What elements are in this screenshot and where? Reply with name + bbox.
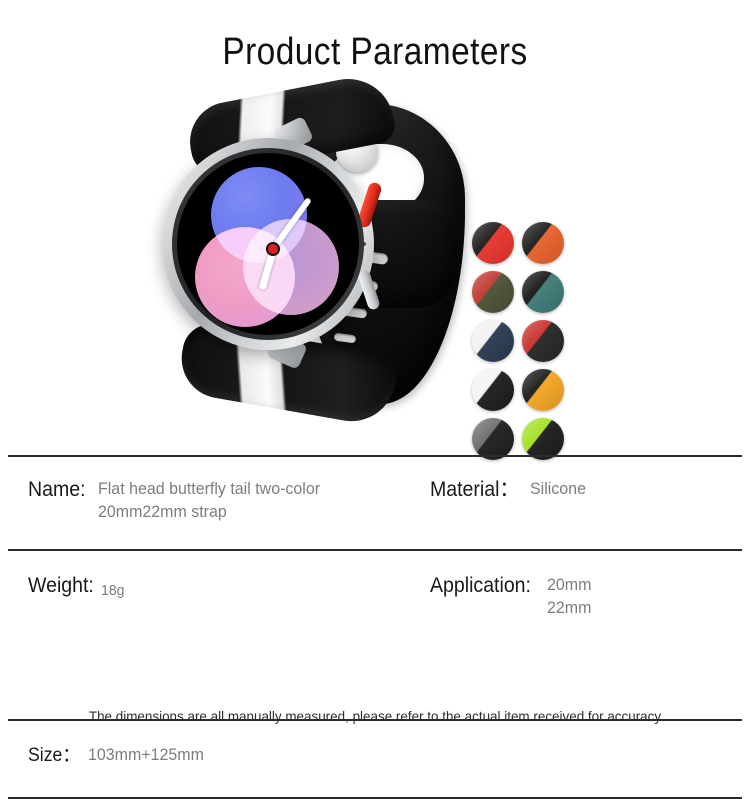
color-swatch-black-amber[interactable] [522, 369, 564, 411]
page-title: Product Parameters [45, 30, 705, 74]
name-value-line1: Flat head butterfly tail two-color [98, 477, 320, 500]
watch-screen [177, 153, 359, 335]
color-swatch-grey-black[interactable] [472, 418, 514, 460]
weight-value: 18g [101, 579, 125, 602]
color-swatch-grid[interactable] [472, 222, 568, 462]
size-label: Size： [28, 743, 80, 768]
color-swatch-black-red[interactable] [472, 222, 514, 264]
color-swatch-lime-black[interactable] [522, 418, 564, 460]
name-label: Name: [28, 477, 86, 502]
spec-cell-material: Material： Silicone [420, 477, 742, 502]
table-row-size: Size： 103mm+125mm [8, 721, 742, 797]
name-value-line2: 20mm22mm strap [98, 500, 320, 523]
second-hand [177, 153, 179, 231]
spec-table: Name: Flat head butterfly tail two-color… [8, 455, 742, 799]
color-swatch-white-navy[interactable] [472, 320, 514, 362]
table-row-weight-application: Weight: 18g Application: 20mm 22mm [8, 551, 742, 663]
watch-case [162, 138, 374, 350]
spec-cell-application: Application: 20mm 22mm [420, 573, 742, 619]
watch-face-purple-circle [243, 219, 339, 315]
size-value: 103mm+125mm [88, 743, 204, 766]
color-swatch-white-black[interactable] [472, 369, 514, 411]
spec-cell-weight: Weight: 18g [8, 573, 420, 602]
color-swatch-black-orange[interactable] [522, 222, 564, 264]
weight-label: Weight: [28, 573, 94, 598]
color-swatch-red-olive[interactable] [472, 271, 514, 313]
color-swatch-red-black[interactable] [522, 320, 564, 362]
spec-cell-name: Name: Flat head butterfly tail two-color… [8, 477, 420, 523]
application-value-line1: 20mm [547, 573, 591, 596]
material-label: Material： [430, 477, 519, 502]
watch-bezel [172, 148, 364, 340]
watch-hands-pin [268, 244, 278, 254]
application-value-line2: 22mm [547, 596, 591, 619]
color-swatch-black-teal[interactable] [522, 271, 564, 313]
watch-illustration [150, 80, 470, 430]
table-row-name-material: Name: Flat head butterfly tail two-color… [8, 457, 742, 549]
application-label: Application: [430, 573, 531, 598]
product-image [0, 80, 750, 440]
material-value: Silicone [530, 477, 586, 500]
measurement-disclaimer: The dimensions are all manually measured… [15, 707, 735, 725]
spec-cell-size: Size： 103mm+125mm [8, 743, 420, 768]
